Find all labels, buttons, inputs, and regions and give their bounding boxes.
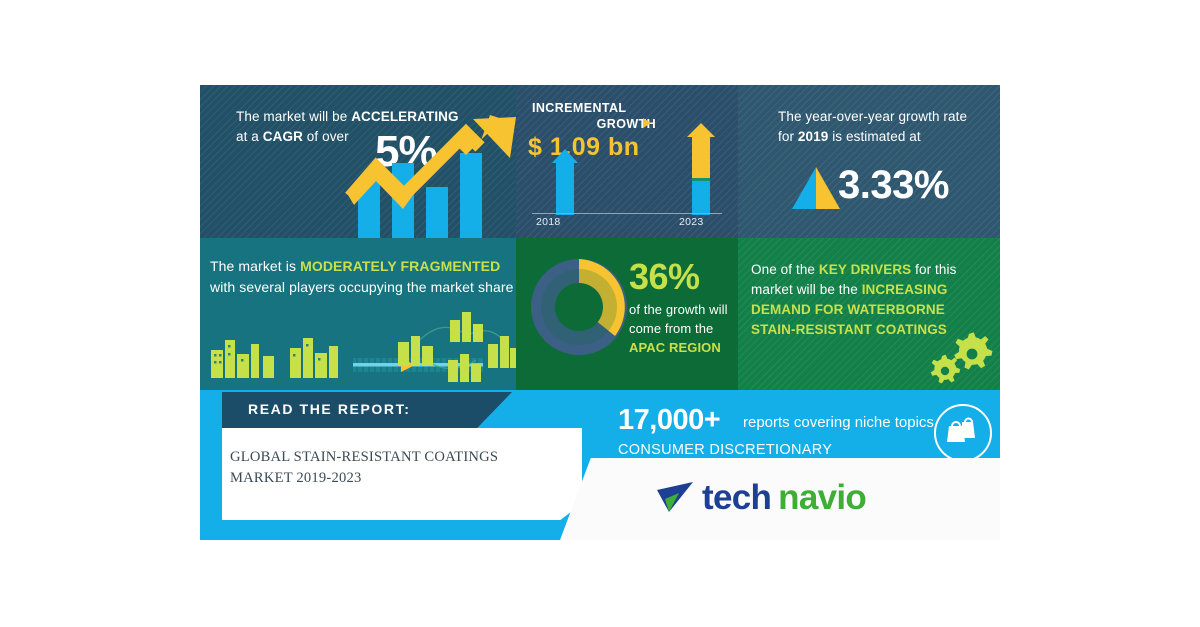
logo-word-tech: tech xyxy=(702,478,771,518)
logo-word-navio: navio xyxy=(778,478,866,518)
panel-apac-share: 36% of the growth will come from the APA… xyxy=(516,238,738,390)
paper-plane-icon xyxy=(655,480,695,516)
panel-fragmentation: The market is MODERATELY FRAGMENTED with… xyxy=(200,238,516,390)
read-the-report-ribbon: READ THE REPORT: xyxy=(222,392,512,428)
panel-cagr: The market will be ACCELERATING at a CAG… xyxy=(200,85,516,238)
axis-label-2018: 2018 xyxy=(536,216,561,228)
panel-incremental-growth: INCREMENTAL GROWTH $ 1.09 bn 2018 2023 xyxy=(516,85,738,238)
apac-description: of the growth will come from the APAC RE… xyxy=(629,300,738,357)
incremental-title-line-1: INCREMENTAL xyxy=(532,101,626,115)
cagr-text-2: at a xyxy=(236,129,263,144)
fragmentation-description: The market is MODERATELY FRAGMENTED with… xyxy=(210,256,516,298)
fragmentation-text-1: The market is xyxy=(210,258,300,274)
apac-text-1: of the growth will xyxy=(629,302,728,317)
gears-icon xyxy=(928,330,996,388)
yoy-text-3: is estimated at xyxy=(828,129,920,144)
report-count-subtitle: reports covering niche topics xyxy=(743,414,934,431)
city-buildings-cluster-icon xyxy=(392,306,516,388)
apac-text-2: come from the xyxy=(629,321,713,336)
technavio-logo: technavio xyxy=(655,478,866,518)
fragmentation-highlight: MODERATELY FRAGMENTED xyxy=(300,258,500,274)
infographic-canvas: The market will be ACCELERATING at a CAG… xyxy=(0,0,1200,627)
yoy-text-2: for xyxy=(778,129,798,144)
driver-text-1: One of the xyxy=(751,262,819,277)
axis-label-2023: 2023 xyxy=(679,216,704,228)
ribbon-label: READ THE REPORT: xyxy=(248,401,411,417)
panel-key-drivers: One of the KEY DRIVERS for this market w… xyxy=(738,238,1000,390)
triangle-up-icon xyxy=(790,165,842,211)
yoy-text-1: The year-over-year growth rate xyxy=(778,109,967,124)
panel-footer: READ THE REPORT: GLOBAL STAIN-RESISTANT … xyxy=(200,390,1000,540)
report-count: 17,000+ xyxy=(618,404,720,437)
cagr-text-1: The market will be xyxy=(236,109,351,124)
incremental-growth-bars xyxy=(532,123,727,215)
cagr-highlight-cagr: CAGR xyxy=(263,129,303,144)
donut-chart-icon xyxy=(527,252,632,362)
yoy-value: 3.33% xyxy=(838,163,949,208)
report-title: GLOBAL STAIN-RESISTANT COATINGS MARKET 2… xyxy=(230,447,560,489)
growth-arrow-bar-chart-icon xyxy=(340,113,516,238)
shopping-bags-icon-circle xyxy=(934,404,992,462)
shopping-bags-icon xyxy=(936,406,986,456)
apac-highlight-region: APAC REGION xyxy=(629,340,721,355)
panel-yoy-growth: The year-over-year growth rate for 2019 … xyxy=(738,85,1000,238)
driver-description: One of the KEY DRIVERS for this market w… xyxy=(751,260,991,340)
incremental-axis-line xyxy=(532,213,722,214)
apac-percentage: 36% xyxy=(629,256,700,298)
yoy-highlight-year: 2019 xyxy=(798,129,828,144)
driver-highlight-key-drivers: KEY DRIVERS xyxy=(819,262,911,277)
report-category: CONSUMER DISCRETIONARY xyxy=(618,442,832,458)
infographic-frame: The market will be ACCELERATING at a CAG… xyxy=(200,85,1000,540)
fragmentation-text-2: with several players occupying the marke… xyxy=(210,279,514,295)
yoy-description: The year-over-year growth rate for 2019 … xyxy=(778,107,993,147)
